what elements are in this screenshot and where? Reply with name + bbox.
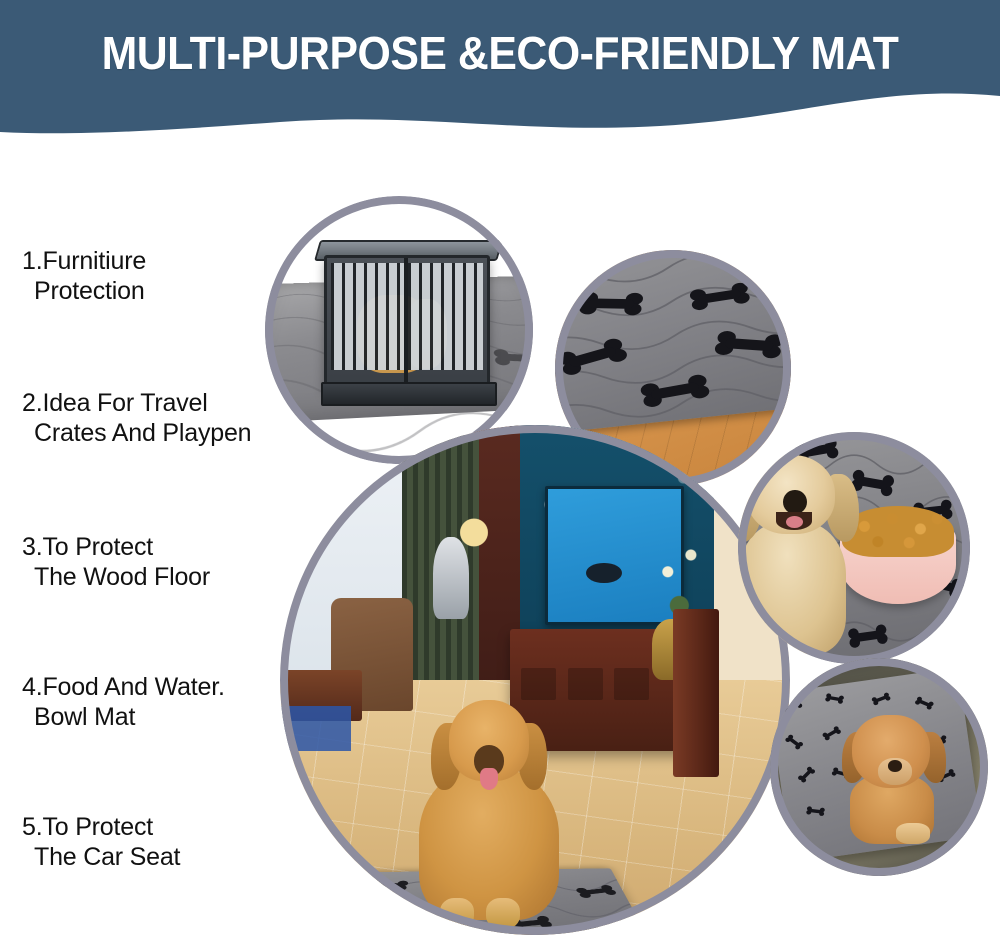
wooden-pillar [673,609,719,777]
photo-circle-food-bowl [738,432,970,664]
dog-body [419,768,560,921]
feature-item-4: 4.Food And Water. Bowl Mat [22,672,225,732]
mat-corner [555,250,791,435]
dog-crate [324,255,490,389]
food-bowl-photo [738,432,970,664]
console-drawer [521,668,556,700]
crate-photo [265,196,533,464]
dog-body [739,522,846,654]
feature-item-1: 1.Furnitiure Protection [22,246,146,306]
photo-circle-car-seat [770,658,988,876]
tv-reflection [586,563,622,583]
golden-retriever [738,451,859,651]
photo-circle-living-room [280,425,790,935]
crate-door-divider [404,258,408,387]
console-drawer [614,668,649,700]
feature-5-line2: The Car Seat [22,842,180,872]
golden-retriever [413,700,566,924]
page-title: MULTI-PURPOSE &ECO-FRIENDLY MAT [35,26,965,80]
photo-circle-crate [265,196,533,464]
crate-base-tray [321,382,498,406]
car-seat-photo [770,658,988,876]
table-lamp [459,502,490,563]
feature-item-2: 2.Idea For Travel Crates And Playpen [22,388,251,448]
living-room-photo [280,425,790,935]
dog-paw-left [440,898,474,929]
feature-2-line1: 2.Idea For Travel [22,389,208,417]
puppy-nose [888,760,902,771]
puppy-paw [896,823,930,843]
feature-3-line2: The Wood Floor [22,562,210,592]
feature-item-3: 3.To Protect The Wood Floor [22,532,210,592]
mat-bone-texture-icon [555,250,791,435]
header-banner: MULTI-PURPOSE &ECO-FRIENDLY MAT [0,0,1000,140]
dog-nose [783,490,806,514]
bordeaux-puppy [844,715,944,841]
feature-5-line1: 5.To Protect [22,813,153,841]
dog-paw-right [486,898,520,929]
kibble-pile [842,506,953,557]
blue-rug [280,706,351,752]
feature-4-line1: 4.Food And Water. [22,673,225,701]
console-drawer [568,668,603,700]
feature-1-line2: Protection [22,276,146,306]
feature-item-5: 5.To Protect The Car Seat [22,812,180,872]
feature-4-line2: Bowl Mat [22,702,225,732]
infographic-canvas: MULTI-PURPOSE &ECO-FRIENDLY MAT 1.Furnit… [0,0,1000,946]
feature-1-line1: 1.Furnitiure [22,247,146,275]
feature-2-line2: Crates And Playpen [22,418,251,448]
feature-3-line1: 3.To Protect [22,533,153,561]
